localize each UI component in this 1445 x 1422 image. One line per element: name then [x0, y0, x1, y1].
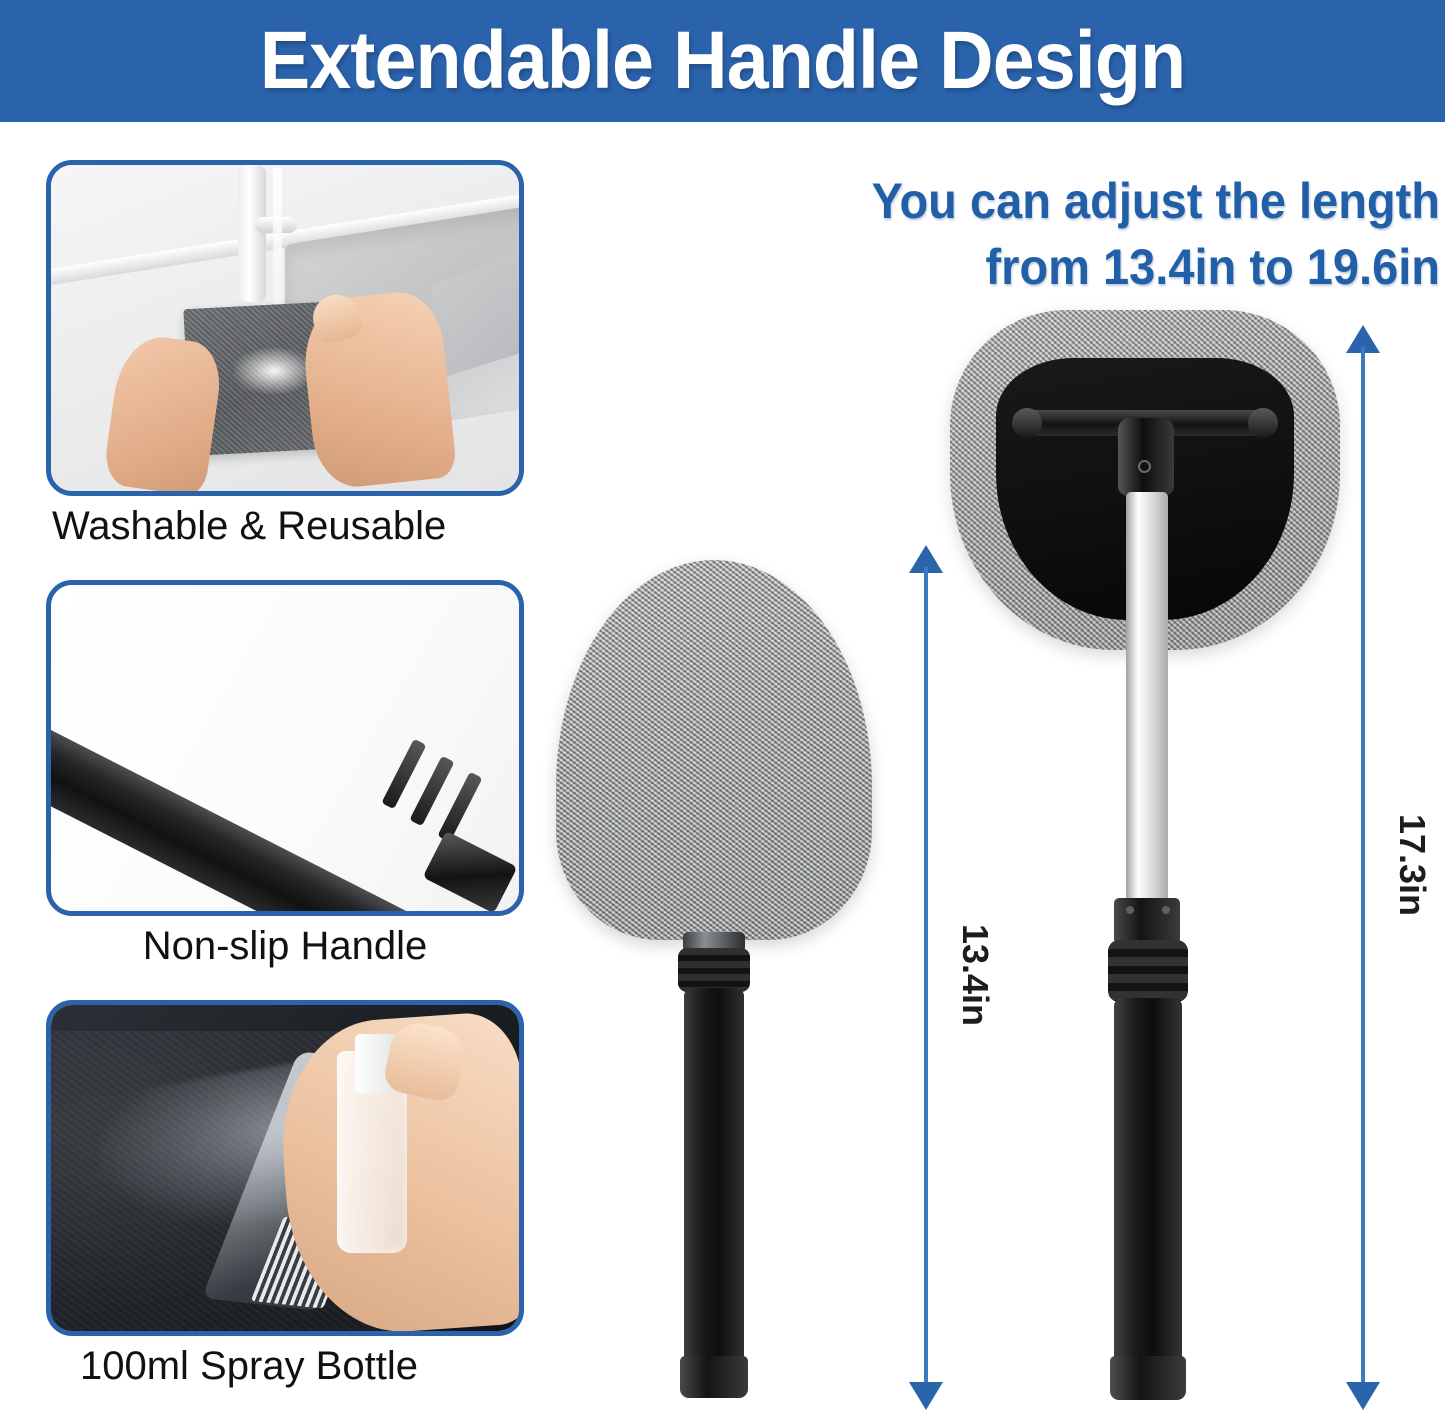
collar-hole-right — [1162, 906, 1170, 914]
grip-rings-extended — [1108, 940, 1188, 1002]
feature-caption-spray-bottle: 100ml Spray Bottle — [46, 1344, 524, 1389]
feature-nonslip: Non-slip Handle — [46, 580, 524, 969]
faucet-body — [238, 165, 266, 302]
foam-handle-extended — [1114, 998, 1182, 1366]
t-bar-cap-left — [1012, 408, 1042, 438]
headline-line-2: from 13.4in to 19.6in — [688, 234, 1440, 300]
arrow-head-down-icon — [1346, 1382, 1380, 1410]
feature-photo-washable — [46, 160, 524, 496]
telescoping-pole — [1126, 492, 1168, 912]
dimension-label-collapsed: 13.4in — [954, 924, 996, 1026]
dimension-line — [924, 567, 928, 1388]
page-title: Extendable Handle Design — [58, 0, 1387, 122]
feature-caption-nonslip: Non-slip Handle — [46, 924, 524, 969]
collar-hole-left — [1126, 906, 1134, 914]
end-cap-extended — [1110, 1356, 1186, 1400]
headline-text: You can adjust the length from 13.4in to… — [688, 168, 1440, 300]
dimension-label-extended: 17.3in — [1391, 814, 1433, 916]
sink-basin-inner — [432, 245, 524, 380]
water-splash — [234, 348, 314, 394]
end-cap-collapsed — [680, 1356, 748, 1398]
feature-caption-washable: Washable & Reusable — [46, 504, 524, 549]
feature-photo-spray-bottle — [46, 1000, 524, 1336]
product-extended-cleaner — [940, 310, 1350, 1410]
pivot-release-button — [1138, 460, 1151, 473]
feature-photo-nonslip — [46, 580, 524, 916]
grip-rings-collapsed — [678, 948, 750, 992]
product-collapsed-cleaner — [548, 560, 878, 1410]
feature-spray-bottle: 100ml Spray Bottle — [46, 1000, 524, 1389]
microfiber-head-collapsed — [556, 560, 872, 940]
dimension-arrow-collapsed: 13.4in — [908, 545, 944, 1410]
pole-lock-collar — [1114, 898, 1180, 944]
feature-washable: Washable & Reusable — [46, 160, 524, 549]
product-infographic: Extendable Handle Design You can adjust … — [0, 0, 1445, 1422]
dimension-line — [1361, 347, 1365, 1388]
arrow-head-down-icon — [909, 1382, 943, 1410]
pivot-hub — [1118, 418, 1174, 496]
t-bar-cap-right — [1248, 408, 1278, 438]
foam-handle-collapsed — [684, 988, 744, 1366]
headline-line-1: You can adjust the length — [688, 168, 1440, 234]
dimension-arrow-extended: 17.3in — [1345, 325, 1381, 1410]
